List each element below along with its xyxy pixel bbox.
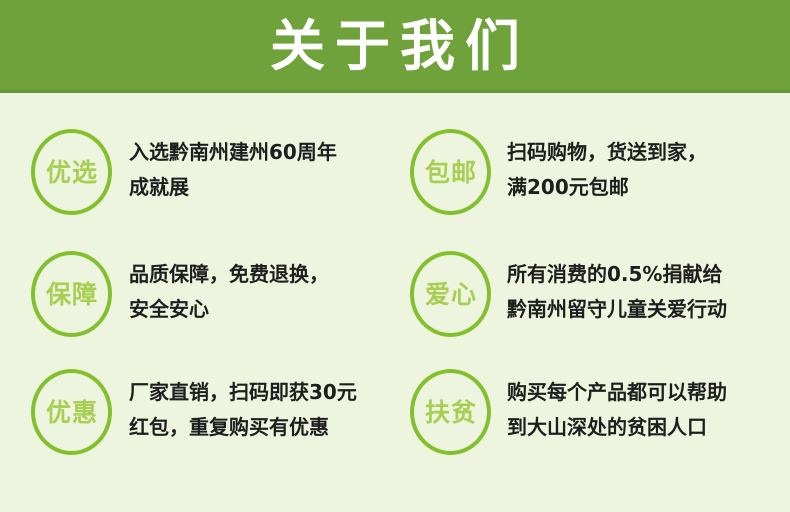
feature-description-line: 购买每个产品都可以帮助 — [507, 375, 790, 410]
feature-description-line: 到大山深处的贫困人口 — [507, 410, 790, 445]
badge-circle-baoyou: 包邮 — [410, 129, 491, 215]
feature-item-baoyou: 包邮 扫码购物，货送到家， 满200元包邮 — [395, 126, 790, 248]
feature-description-line: 所有消费的0.5%捐献给 — [507, 257, 790, 292]
badge-label: 扶贫 — [424, 400, 477, 425]
feature-description-line: 黔南州留守儿童关爱行动 — [507, 292, 790, 327]
badge-label: 保障 — [45, 282, 98, 307]
feature-description-line: 扫码购物，货送到家， — [507, 135, 790, 170]
badge-circle-youxuan: 优选 — [31, 129, 112, 215]
feature-description: 厂家直销，扫码即获30元 红包，重复购买有优惠 — [129, 375, 395, 445]
feature-description-line: 厂家直销，扫码即获30元 — [129, 375, 395, 410]
feature-description-line: 品质保障，免费退换， — [129, 257, 395, 292]
feature-item-fupin: 扶贫 购买每个产品都可以帮助 到大山深处的贫困人口 — [395, 366, 790, 484]
badge-label: 包邮 — [424, 160, 477, 185]
feature-item-baozhang: 保障 品质保障，免费退换， 安全安心 — [0, 248, 395, 366]
badge-label: 优选 — [45, 160, 98, 185]
feature-item-aixin: 爱心 所有消费的0.5%捐献给 黔南州留守儿童关爱行动 — [395, 248, 790, 366]
badge-label: 爱心 — [424, 282, 477, 307]
feature-grid: 优选 入选黔南州建州60周年 成就展 包邮 扫码购物，货送到家， 满200元包邮… — [0, 96, 790, 512]
feature-description: 所有消费的0.5%捐献给 黔南州留守儿童关爱行动 — [507, 257, 790, 327]
page-title: 关于我们 — [0, 14, 790, 78]
badge-label: 优惠 — [45, 400, 98, 425]
feature-description-line: 红包，重复购买有优惠 — [129, 410, 395, 445]
badge-circle-aixin: 爱心 — [410, 251, 491, 337]
badge-circle-baozhang: 保障 — [31, 251, 112, 337]
badge-circle-youhui: 优惠 — [31, 369, 112, 455]
badge-circle-fupin: 扶贫 — [410, 369, 491, 455]
feature-description: 入选黔南州建州60周年 成就展 — [129, 135, 395, 205]
feature-description-line: 满200元包邮 — [507, 170, 790, 205]
feature-description: 品质保障，免费退换， 安全安心 — [129, 257, 395, 327]
feature-item-youhui: 优惠 厂家直销，扫码即获30元 红包，重复购买有优惠 — [0, 366, 395, 484]
feature-description: 购买每个产品都可以帮助 到大山深处的贫困人口 — [507, 375, 790, 445]
feature-description-line: 安全安心 — [129, 292, 395, 327]
feature-item-youxuan: 优选 入选黔南州建州60周年 成就展 — [0, 126, 395, 248]
page-header: 关于我们 — [0, 0, 790, 93]
about-us-page: 关于我们 优选 入选黔南州建州60周年 成就展 包邮 扫码购物，货送到家， 满2… — [0, 0, 790, 512]
feature-description-line: 入选黔南州建州60周年 — [129, 135, 395, 170]
feature-description: 扫码购物，货送到家， 满200元包邮 — [507, 135, 790, 205]
feature-description-line: 成就展 — [129, 170, 395, 205]
